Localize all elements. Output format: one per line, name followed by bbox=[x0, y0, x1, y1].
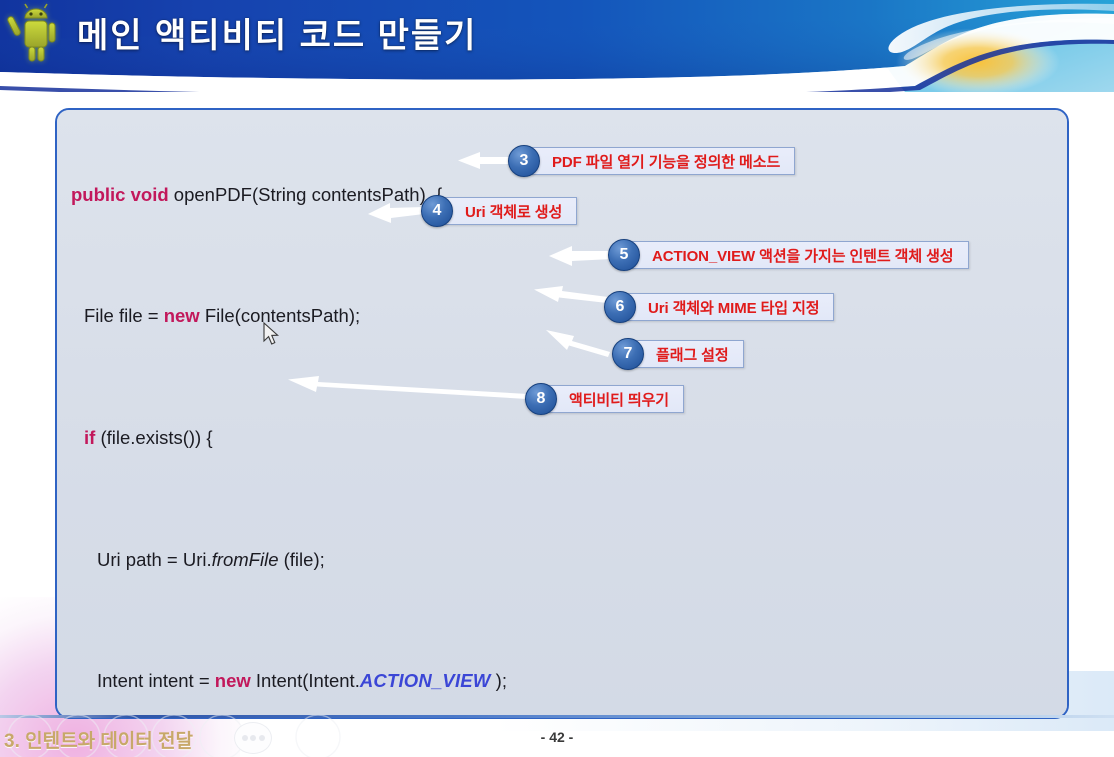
callout-4-badge: 4 bbox=[421, 195, 453, 227]
callout-7-badge: 7 bbox=[612, 338, 644, 370]
dot-2 bbox=[250, 735, 256, 741]
token-ACTION_VIEW: ACTION_VIEW bbox=[360, 670, 491, 691]
android-robot-icon bbox=[6, 2, 66, 68]
token-File-ctor: File bbox=[205, 305, 235, 326]
token-Intent-type: Intent bbox=[97, 670, 143, 691]
token-contentsPath-arg: contentsPath bbox=[241, 305, 349, 326]
callout-3-badge: 3 bbox=[508, 145, 540, 177]
token-Intent-ctor: Intent bbox=[256, 670, 302, 691]
slide-canvas: 메인 액티비티 코드 만들기 public void openPDF(Strin… bbox=[0, 0, 1114, 757]
code-line-3: if (file.exists()) { bbox=[71, 423, 745, 453]
slide-header: 메인 액티비티 코드 만들기 bbox=[0, 0, 1114, 92]
token-String: String bbox=[258, 184, 306, 205]
token-file-exists: file.exists() bbox=[107, 427, 195, 448]
callout-8-badge: 8 bbox=[525, 383, 557, 415]
token-intent-var: intent bbox=[148, 670, 193, 691]
token-Intent-ref: Intent bbox=[308, 670, 354, 691]
code-line-4: Uri path = Uri.fromFile (file); bbox=[71, 545, 745, 575]
code-block: public void openPDF(String contentsPath)… bbox=[71, 119, 745, 719]
token-fromFile: fromFile bbox=[212, 549, 279, 570]
callout-5-label: ACTION_VIEW 액션을 가지는 인텐트 객체 생성 bbox=[631, 241, 969, 269]
page-number: - 42 - bbox=[0, 729, 1114, 745]
token-file-var: file bbox=[119, 305, 143, 326]
token-Uri-ref: Uri bbox=[183, 549, 207, 570]
token-openPDF: openPDF bbox=[174, 184, 252, 205]
callout-8[interactable]: 8 액티비티 띄우기 bbox=[525, 385, 684, 413]
token-public: public bbox=[71, 184, 125, 205]
token-new-2: new bbox=[215, 670, 251, 691]
callout-5[interactable]: 5 ACTION_VIEW 액션을 가지는 인텐트 객체 생성 bbox=[608, 241, 969, 269]
callout-4[interactable]: 4 Uri 객체로 생성 bbox=[421, 197, 577, 225]
token-contentsPath: contentsPath bbox=[312, 184, 420, 205]
callout-6[interactable]: 6 Uri 객체와 MIME 타입 지정 bbox=[604, 293, 834, 321]
token-void: void bbox=[131, 184, 169, 205]
callout-7[interactable]: 7 플래그 설정 bbox=[612, 340, 744, 368]
code-line-5: Intent intent = new Intent(Intent.ACTION… bbox=[71, 666, 745, 696]
callout-3[interactable]: 3 PDF 파일 열기 기능을 정의한 메소드 bbox=[508, 147, 795, 175]
token-if: if bbox=[84, 427, 95, 448]
token-File-type: File bbox=[84, 305, 114, 326]
callout-3-label: PDF 파일 열기 기능을 정의한 메소드 bbox=[531, 147, 795, 175]
callout-5-badge: 5 bbox=[608, 239, 640, 271]
dot-1 bbox=[242, 735, 248, 741]
mouse-cursor bbox=[263, 322, 280, 347]
callout-7-label: 플래그 설정 bbox=[635, 340, 744, 368]
page-title: 메인 액티비티 코드 만들기 bbox=[77, 8, 477, 57]
token-path-var: path bbox=[126, 549, 162, 570]
callout-4-label: Uri 객체로 생성 bbox=[444, 197, 577, 225]
callout-6-badge: 6 bbox=[604, 291, 636, 323]
callout-8-label: 액티비티 띄우기 bbox=[548, 385, 684, 413]
dot-3 bbox=[259, 735, 265, 741]
slide-footer: 3. 인텐트와 데이터 전달 - 42 - bbox=[0, 715, 1114, 757]
token-file-arg: file bbox=[290, 549, 314, 570]
three-dots-circle-icon[interactable] bbox=[234, 722, 272, 754]
callout-6-label: Uri 객체와 MIME 타입 지정 bbox=[627, 293, 834, 321]
code-line-1: public void openPDF(String contentsPath)… bbox=[71, 180, 745, 210]
token-new-1: new bbox=[164, 305, 200, 326]
token-Uri-type: Uri bbox=[97, 549, 121, 570]
